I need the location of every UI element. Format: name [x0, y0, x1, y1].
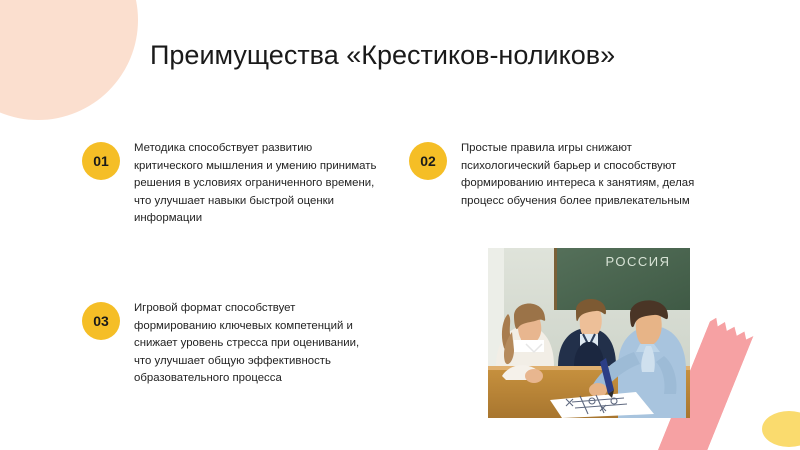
feature-number-badge-02: 02 [409, 142, 447, 180]
classroom-photo: РОССИЯ [488, 248, 690, 418]
feature-number-badge-03: 03 [82, 302, 120, 340]
peach-circle-decoration [0, 0, 138, 120]
feature-number-badge-01: 01 [82, 142, 120, 180]
feature-text-01: Методика способствует развитию критическ… [134, 140, 382, 228]
slide-canvas: Преимущества «Крестиков-ноликов» 01 Мето… [0, 0, 800, 450]
feature-item-01: 01 Методика способствует развитию критич… [82, 140, 382, 228]
chalkboard-text: РОССИЯ [605, 254, 670, 269]
page-title: Преимущества «Крестиков-ноликов» [150, 38, 750, 72]
feature-text-02: Простые правила игры снижают психологиче… [461, 140, 709, 210]
feature-item-03: 03 Игровой формат способствует формирова… [82, 300, 382, 388]
yellow-ellipse-decoration [762, 411, 800, 447]
feature-text-03: Игровой формат способствует формированию… [134, 300, 372, 388]
classroom-photo-illustration: РОССИЯ [488, 248, 690, 418]
feature-item-02: 02 Простые правила игры снижают психолог… [409, 140, 719, 210]
